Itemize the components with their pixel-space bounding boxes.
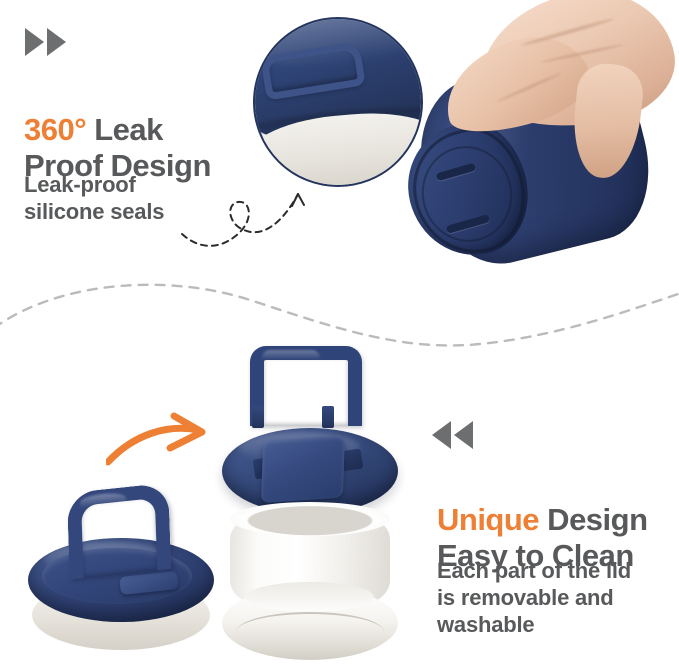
rewind-triangle-2: [454, 421, 473, 449]
rewind-icon: [432, 421, 473, 449]
hand-finger: [568, 61, 646, 181]
exploded-seal-flare-line: [236, 612, 384, 652]
lid-closeup-inset: [253, 17, 423, 187]
exploded-disc-plate: [261, 435, 345, 503]
fast-forward-icon: [25, 28, 66, 56]
exploded-handle-highlight: [262, 350, 320, 360]
assembled-lid-photo: [28, 482, 224, 665]
bottom-right-subline: Each part of the lid is removable and wa…: [437, 558, 631, 638]
exploded-seal-ring-top: [230, 502, 390, 536]
top-left-subline: Leak-proof silicone seals: [24, 172, 164, 226]
exploded-handle-foot-left: [252, 406, 264, 428]
dashed-loop-arrow-icon: [178, 172, 318, 260]
hand: [424, 0, 674, 180]
fast-forward-triangle-2: [47, 28, 66, 56]
top-left-headline-accent: 360°: [24, 112, 86, 147]
bottom-right-headline-accent: Unique: [437, 502, 539, 537]
exploded-lid-parts-photo: [218, 346, 404, 665]
exploded-handle-foot-right: [322, 406, 334, 428]
top-left-headline: 360° Leak Proof Design: [24, 76, 211, 184]
hand-holding-tumbler-photo: [400, 0, 679, 288]
infographic-canvas: 360° Leak Proof Design Leak-proof silico…: [0, 0, 679, 665]
fast-forward-triangle-1: [25, 28, 44, 56]
exploded-seal-waist: [246, 582, 374, 612]
rewind-triangle-1: [432, 421, 451, 449]
orange-curved-arrow-icon: [106, 408, 228, 490]
